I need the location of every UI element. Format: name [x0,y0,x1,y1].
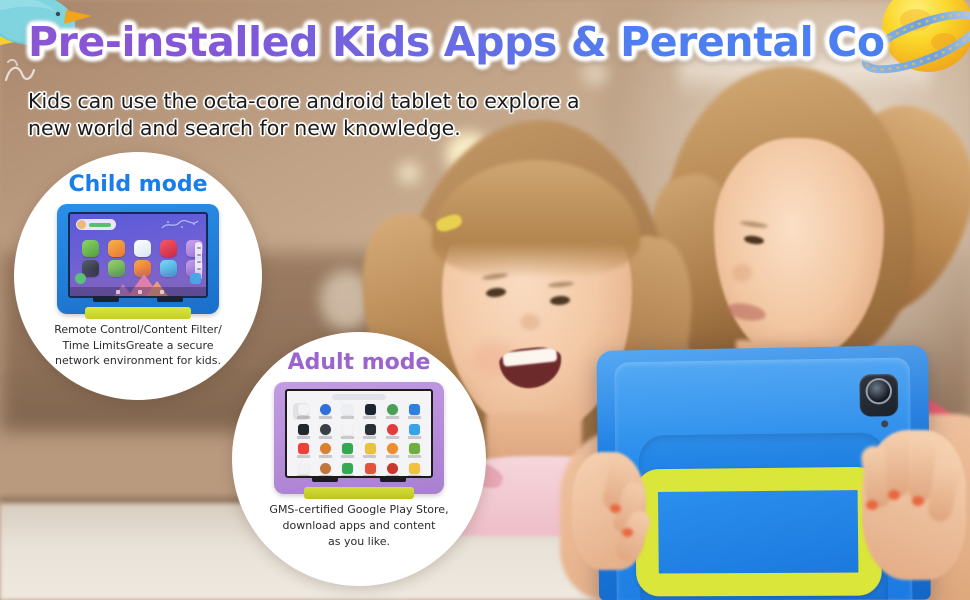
app-cell[interactable] [316,424,335,441]
app-cell[interactable] [405,424,424,441]
nose [520,314,540,330]
search-bar[interactable] [332,394,386,400]
app-label [297,475,310,478]
app-cell[interactable] [294,404,313,421]
app-cell[interactable] [383,404,402,421]
app-icon[interactable] [342,463,353,474]
caption-line-3: network environment for kids. [33,353,243,369]
app-cell[interactable] [405,404,424,421]
app-label [341,455,354,458]
app-icon[interactable] [365,424,376,435]
yellow-stand [85,307,191,319]
app-icon[interactable] [409,404,420,415]
app-icon[interactable] [365,443,376,454]
app-label [341,436,354,439]
apps-button-icon[interactable] [190,273,201,284]
home-button-icon[interactable] [75,273,86,284]
app-cell[interactable] [405,443,424,460]
app-icon[interactable] [365,404,376,415]
card-child-heading: Child mode [68,174,207,196]
finger [885,434,911,497]
app-icon[interactable] [387,404,398,415]
right-hand [862,430,966,580]
app-icon[interactable] [342,424,353,435]
app-cell[interactable] [294,424,313,441]
left-hand [572,452,646,570]
app-icon[interactable] [320,463,331,474]
app-cell[interactable] [405,463,424,479]
app-label [319,455,332,458]
app-label [363,455,376,458]
yellow-stand [304,487,414,499]
navigation-bar [70,287,206,296]
card-adult-mode[interactable]: Adult mode GMS-certified Google Play Sto… [232,332,486,586]
app-icon[interactable] [409,443,420,454]
app-icon[interactable] [387,424,398,435]
teeth [502,347,557,367]
adult-mode-tablet [274,382,444,494]
app-cell[interactable] [383,443,402,460]
app-icon[interactable] [320,424,331,435]
app-cell[interactable] [360,463,379,479]
fingernail [622,528,633,537]
card-child-caption: Remote Control/Content Filter/ Time Limi… [33,322,243,369]
screen-doodle-icon [160,219,200,231]
app-label [297,416,310,419]
app-cell[interactable] [383,424,402,441]
app-icon[interactable] [387,443,398,454]
app-label [341,475,354,478]
app-label [319,416,332,419]
caption-line-1: Remote Control/Content Filter/ [33,322,243,338]
app-icon[interactable] [409,463,420,474]
app-cell[interactable] [294,463,313,479]
subtitle: Kids can use the octa-core android table… [28,88,628,143]
app-icon[interactable] [160,240,177,257]
app-cell[interactable] [294,443,313,460]
app-icon[interactable] [82,240,99,257]
app-icon[interactable] [409,424,420,435]
app-icon[interactable] [320,404,331,415]
app-icon[interactable] [387,463,398,474]
fingernail [888,490,900,500]
camera-flash-icon [881,420,888,427]
app-label [408,416,421,419]
page-title: Pre-installed Kids Apps & Perental Contr… [28,18,888,66]
app-cell[interactable] [360,424,379,441]
app-label [297,436,310,439]
app-cell[interactable] [316,404,335,421]
android-app-drawer-grid [294,404,424,478]
app-label [341,416,354,419]
app-icon[interactable] [298,443,309,454]
subtitle-line-2: new world and search for new knowledge. [28,115,628,142]
fingernail [610,504,621,513]
caption-line-2: Time LimitsGreate a secure [33,338,243,354]
app-label [408,455,421,458]
card-child-mode[interactable]: Child mode [14,152,262,400]
marketing-banner: Pre-installed Kids Apps & Perental Contr… [0,0,970,600]
app-label [386,436,399,439]
app-label [386,416,399,419]
app-icon[interactable] [298,424,309,435]
caption-line-2: download apps and content [257,518,462,534]
caption-line-1: GMS-certified Google Play Store, [257,502,462,518]
app-label [386,455,399,458]
app-icon[interactable] [134,240,151,257]
app-label [408,436,421,439]
card-adult-heading: Adult mode [288,352,431,374]
case-foot [157,296,183,302]
app-label [408,475,421,478]
tablet-screen [285,389,433,478]
app-cell[interactable] [360,443,379,460]
app-icon[interactable] [320,443,331,454]
case-foot [93,296,119,302]
app-icon[interactable] [365,463,376,474]
app-icon[interactable] [342,443,353,454]
card-adult-caption: GMS-certified Google Play Store, downloa… [257,502,462,550]
fingernail [866,500,878,510]
subtitle-line-1: Kids can use the octa-core android table… [28,88,628,115]
app-label [363,475,376,478]
app-label [363,416,376,419]
app-cell[interactable] [338,463,357,479]
app-icon[interactable] [342,404,353,415]
app-label [319,436,332,439]
app-cell[interactable] [338,404,357,421]
case-foot [380,476,406,482]
app-cell[interactable] [338,443,357,460]
tablet-screen [68,212,208,298]
nose [732,264,752,282]
app-icon[interactable] [108,240,125,257]
kids-profile-chip [76,219,116,230]
fingernail [912,496,924,506]
app-cell[interactable] [360,404,379,421]
yellow-handle [635,467,882,597]
case-foot [312,476,338,482]
app-cell[interactable] [316,443,335,460]
app-icon[interactable] [298,404,309,415]
app-label [363,436,376,439]
app-icon[interactable] [298,463,309,474]
app-label [297,455,310,458]
app-cell[interactable] [338,424,357,441]
rear-camera-icon [859,374,898,417]
caption-line-3: as you like. [257,534,462,550]
child-mode-tablet [57,204,219,314]
